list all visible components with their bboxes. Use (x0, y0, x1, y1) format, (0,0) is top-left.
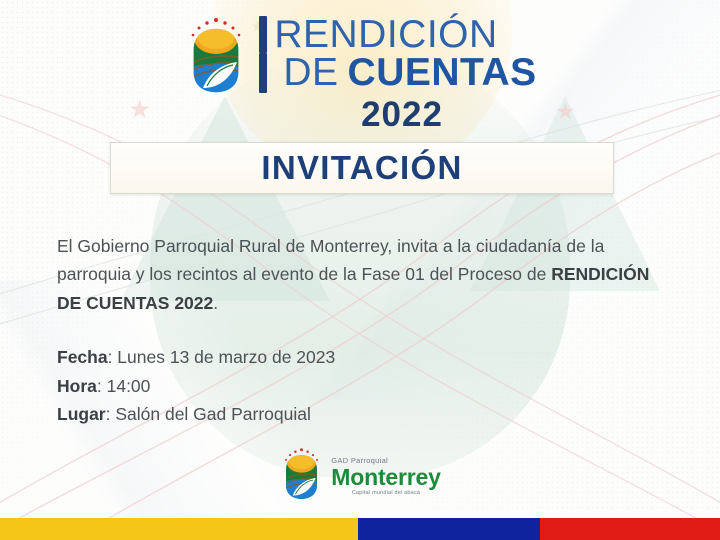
monterrey-gad-emblem-icon (279, 447, 324, 506)
invitation-banner-label: INVITACIÓN (261, 149, 462, 187)
title-accent-bar (259, 53, 267, 93)
footer-logo: GAD Parroquial Monterrey Capital mundial… (0, 447, 720, 506)
detail-row-hora: Hora: 14:00 (57, 372, 557, 401)
flag-stripe-yellow (0, 518, 358, 540)
ecuador-flag-stripe (0, 518, 720, 540)
footer-parish-name: Monterrey (331, 466, 440, 489)
title-line-rendicion: RENDICIÓN (259, 16, 536, 53)
flag-stripe-blue (358, 518, 540, 540)
fecha-label: Fecha (57, 347, 108, 367)
invitation-paragraph: El Gobierno Parroquial Rural de Monterre… (57, 232, 667, 317)
hora-label: Hora (57, 376, 97, 396)
invitation-poster: ★ ★ ★ ★ ★ (0, 0, 720, 540)
detail-row-fecha: Fecha: Lunes 13 de marzo de 2023 (57, 343, 557, 372)
hora-value: : 14:00 (97, 376, 151, 396)
header-title-row: RENDICIÓN DE CUENTAS 2022 (0, 16, 720, 135)
paragraph-lead-text: El Gobierno Parroquial Rural de Monterre… (57, 236, 604, 284)
flag-stripe-red (540, 518, 720, 540)
detail-row-lugar: Lugar: Salón del Gad Parroquial (57, 400, 557, 429)
title-rendicion-text: RENDICIÓN (274, 16, 497, 53)
title-year: 2022 (259, 95, 536, 135)
footer-tagline: Capital mundial del abacá (352, 491, 420, 497)
title-cuentas-text: CUENTAS (348, 53, 537, 93)
invitation-banner: INVITACIÓN (110, 142, 614, 194)
title-line-de-cuentas: DE CUENTAS (259, 53, 536, 93)
monterrey-gad-emblem-icon (183, 16, 249, 101)
lugar-label: Lugar (57, 404, 106, 424)
event-details: Fecha: Lunes 13 de marzo de 2023 Hora: 1… (57, 343, 557, 429)
lugar-value: : Salón del Gad Parroquial (106, 404, 311, 424)
title-de-text: DE (283, 53, 338, 93)
title-text-block: RENDICIÓN DE CUENTAS 2022 (259, 16, 536, 135)
fecha-value: : Lunes 13 de marzo de 2023 (108, 347, 336, 367)
footer-logo-text: GAD Parroquial Monterrey Capital mundial… (331, 457, 440, 496)
paragraph-tail-text: . (213, 293, 218, 313)
title-accent-bar (259, 16, 267, 53)
